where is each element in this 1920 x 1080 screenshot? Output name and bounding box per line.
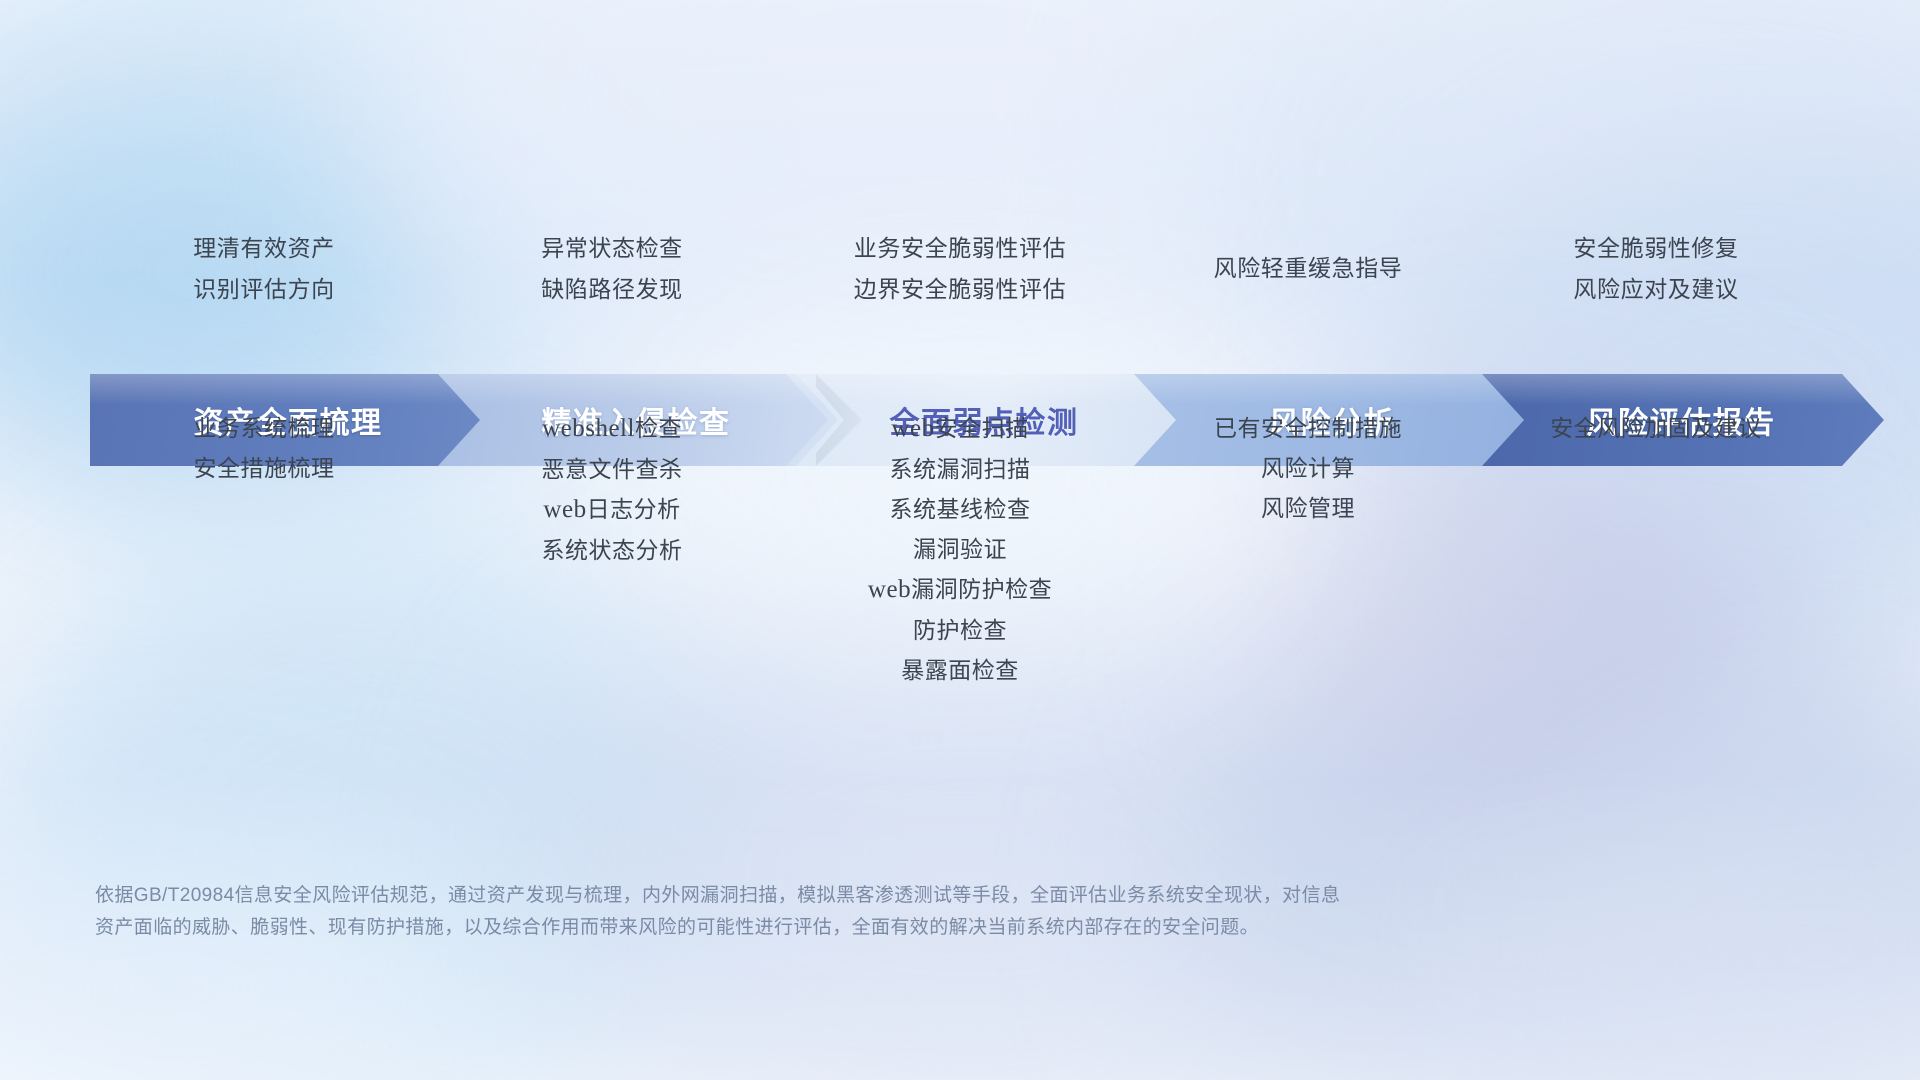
caption-text: 系统漏洞扫描 <box>786 449 1134 489</box>
caption-text: 业务安全脆弱性评估 <box>786 228 1134 269</box>
footnote-line-1: 依据GB/T20984信息安全风险评估规范，通过资产发现与梳理，内外网漏洞扫描，… <box>95 880 1625 912</box>
caption-text: 漏洞验证 <box>786 529 1134 569</box>
caption-text: web日志分析 <box>438 489 786 530</box>
caption-text: 风险管理 <box>1134 488 1482 528</box>
caption-text: web安全扫描 <box>786 408 1134 449</box>
latin-token: webshell <box>542 415 635 442</box>
top-captions-stage-4: 风险轻重缓急指导 <box>1134 228 1482 310</box>
caption-text: 风险轻重缓急指导 <box>1134 248 1482 289</box>
caption-text: 缺陷路径发现 <box>438 269 786 310</box>
top-captions-stage-5: 安全脆弱性修复 风险应对及建议 <box>1482 228 1830 310</box>
caption-text: 识别评估方向 <box>90 269 438 310</box>
caption-text: 边界安全脆弱性评估 <box>786 269 1134 310</box>
caption-text: 安全风险加固及建议 <box>1482 408 1830 448</box>
latin-token: web <box>868 576 911 603</box>
caption-text: 理清有效资产 <box>90 228 438 269</box>
latin-token: web <box>543 496 586 523</box>
top-captions-stage-1: 理清有效资产 识别评估方向 <box>90 228 438 310</box>
bottom-captions-stage-5: 安全风险加固及建议 <box>1482 408 1830 690</box>
top-captions-stage-3: 业务安全脆弱性评估 边界安全脆弱性评估 <box>786 228 1134 310</box>
caption-text: 安全脆弱性修复 <box>1482 228 1830 269</box>
footnote-paragraph: 依据GB/T20984信息安全风险评估规范，通过资产发现与梳理，内外网漏洞扫描，… <box>95 880 1625 944</box>
process-diagram: 理清有效资产 识别评估方向 异常状态检查 缺陷路径发现 业务安全脆弱性评估 边界… <box>0 0 1920 1080</box>
caption-text: 业务系统梳理 <box>90 408 438 448</box>
footnote-line-2: 资产面临的威胁、脆弱性、现有防护措施，以及综合作用而带来风险的可能性进行评估，全… <box>95 912 1625 944</box>
caption-text: 风险计算 <box>1134 448 1482 488</box>
caption-text: 风险应对及建议 <box>1482 269 1830 310</box>
latin-token: web <box>891 415 934 442</box>
caption-text: 安全措施梳理 <box>90 448 438 488</box>
caption-text: webshell检查 <box>438 408 786 449</box>
caption-text: 异常状态检查 <box>438 228 786 269</box>
caption-text: 系统基线检查 <box>786 489 1134 529</box>
bottom-captions-stage-3: web安全扫描 系统漏洞扫描 系统基线检查 漏洞验证 web漏洞防护检查 防护检… <box>786 408 1134 690</box>
top-caption-row: 理清有效资产 识别评估方向 异常状态检查 缺陷路径发现 业务安全脆弱性评估 边界… <box>90 228 1830 310</box>
bottom-caption-row: 业务系统梳理 安全措施梳理 webshell检查 恶意文件查杀 web日志分析 … <box>90 408 1830 690</box>
top-captions-stage-2: 异常状态检查 缺陷路径发现 <box>438 228 786 310</box>
bottom-captions-stage-1: 业务系统梳理 安全措施梳理 <box>90 408 438 690</box>
caption-text: 系统状态分析 <box>438 530 786 570</box>
bottom-captions-stage-2: webshell检查 恶意文件查杀 web日志分析 系统状态分析 <box>438 408 786 690</box>
caption-text: 暴露面检查 <box>786 650 1134 690</box>
caption-text: 恶意文件查杀 <box>438 449 786 489</box>
caption-text: web漏洞防护检查 <box>786 569 1134 610</box>
caption-text: 防护检查 <box>786 610 1134 650</box>
bottom-captions-stage-4: 已有安全控制措施 风险计算 风险管理 <box>1134 408 1482 690</box>
caption-text: 已有安全控制措施 <box>1134 408 1482 448</box>
